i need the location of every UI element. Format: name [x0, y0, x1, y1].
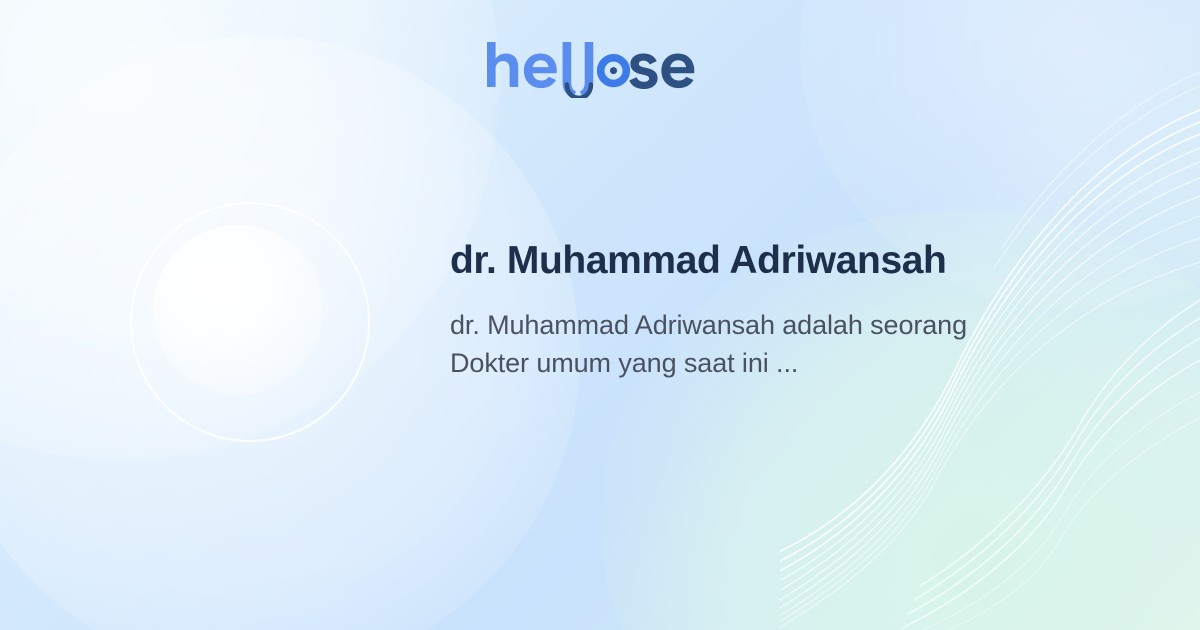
page-description: dr. Muhammad Adriwansah adalah seorang D…	[450, 306, 1010, 383]
stethoscope-chestpiece	[601, 58, 627, 84]
page-title: dr. Muhammad Adriwansah	[450, 238, 1070, 284]
og-card: dr. Muhammad Adriwansah dr. Muhammad Adr…	[0, 0, 1200, 630]
content-block: dr. Muhammad Adriwansah dr. Muhammad Adr…	[450, 238, 1070, 383]
brand-logo	[0, 40, 1200, 98]
hellosehat-logo-icon	[485, 40, 715, 98]
decorative-ring	[130, 202, 370, 442]
